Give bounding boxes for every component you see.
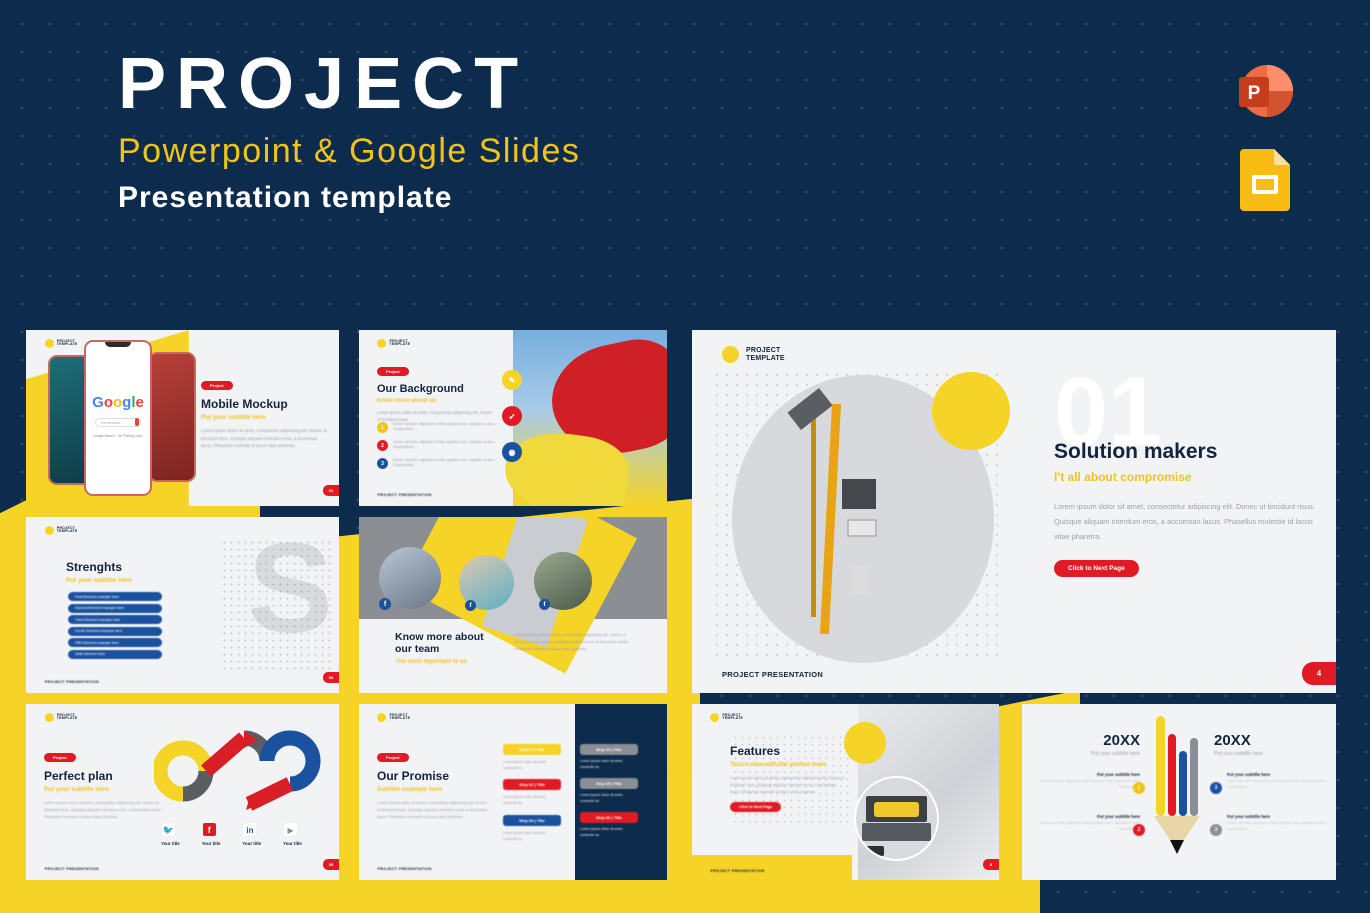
social-label: Your title <box>161 841 180 846</box>
slide-card-features[interactable]: PROJECT TEMPLATE Features You're now wit… <box>692 704 999 880</box>
app-icon-group: P <box>1235 63 1295 211</box>
slide2-tag: Project <box>377 367 409 376</box>
step-button[interactable]: Step 05 | Title <box>580 778 638 789</box>
slide8-page-badge: 6 <box>983 859 999 870</box>
slide5-subtitle: I't all about compromise <box>1054 470 1324 484</box>
mic-icon <box>135 418 139 426</box>
slide8-title: Features <box>730 744 846 758</box>
slide2-subtitle: Know more about us <box>377 398 495 404</box>
yellow-sofa <box>874 802 918 818</box>
feeling-lucky-button[interactable]: I'm Feeling Lucky <box>118 434 143 438</box>
slide3-footer: PROJECT PRESENTATION <box>45 680 99 684</box>
linkedin-icon[interactable]: in <box>242 822 257 837</box>
logo-line-1: PROJECT <box>746 347 780 354</box>
slide4-body: Lorem ipsum dolor sit amet, consectetur … <box>514 632 639 652</box>
phone-right <box>148 352 196 482</box>
slide2-title: Our Background <box>377 383 495 395</box>
pencil-bar-4 <box>1190 738 1198 816</box>
click-next-page-button[interactable]: Click to Next Page <box>730 802 781 812</box>
slide7-body: Lorem ipsum dolor sit amet, consectetur … <box>377 799 489 820</box>
slide5-footer: PROJECT PRESENTATION <box>722 670 823 679</box>
logo-dot-icon <box>377 713 386 722</box>
logo-line-2: TEMPLATE <box>722 716 743 720</box>
social-item[interactable]: 🐦 Your title <box>161 822 180 846</box>
slide4-subtitle: The most important to us <box>395 659 499 665</box>
slide8-subtitle: You're now with the perfect team <box>730 761 846 768</box>
slide1-body: Lorem ipsum dolor sit amet, consectetur … <box>201 427 329 450</box>
logo-line-2: TEMPLATE <box>746 355 785 362</box>
entry-title: Put your subtitle here <box>1227 772 1327 777</box>
slide3-title: Strenghts <box>66 560 132 574</box>
social-label: Your title <box>242 841 261 846</box>
slide8-body: Lorem ipsum dolor sit amet, consectetur … <box>730 774 846 795</box>
entry-right-1: Put your subtitle here Donec nisi nibh, … <box>1227 772 1327 790</box>
entry-num: 1 <box>1133 782 1145 794</box>
google-slides-icon <box>1240 149 1290 211</box>
youtube-icon[interactable]: ▶ <box>283 822 298 837</box>
steps-col-left: Step 01 | Title Lorem ipsum dolor sit am… <box>503 744 561 842</box>
pencil-bar-2 <box>1168 734 1176 816</box>
yellow-circle-accent <box>844 722 886 764</box>
logo-line-2: TEMPLATE <box>389 342 410 346</box>
logo-line-2: TEMPLATE <box>57 342 78 346</box>
entry-right-2: Put your subtitle here Donec nisi nibh, … <box>1227 814 1327 832</box>
facebook-icon[interactable]: f <box>465 600 476 611</box>
slide3-logo: PROJECT TEMPLATE <box>45 526 78 535</box>
slide-card-our-background[interactable]: PROJECT TEMPLATE Project Our Background … <box>359 330 667 506</box>
step-text: Lorem ipsum dolor sit amet, consecte tur… <box>580 793 638 804</box>
entry-left-1: Put your subtitle here Donec nisi nibh, … <box>1036 772 1140 790</box>
crane-cab <box>842 479 876 509</box>
pencil-wood <box>1154 816 1200 842</box>
steps-col-right: Step 04 | Title Lorem ipsum dolor sit am… <box>580 744 638 839</box>
slide-card-solution-makers[interactable]: PROJECT TEMPLATE 01 Solution makers I't … <box>692 330 1336 693</box>
slide1-title: Mobile Mockup <box>201 397 329 411</box>
slide-card-strenghts[interactable]: S PROJECT TEMPLATE Strenghts Put your su… <box>26 517 339 693</box>
list-num: 3 <box>377 458 388 469</box>
phone-center: Google Your keyword Google Search I'm Fe… <box>84 340 152 496</box>
powerpoint-icon: P <box>1235 63 1295 123</box>
pen-icon: ✎ <box>502 370 522 390</box>
entry-left-2: Put your subtitle here Donec nisi nibh, … <box>1036 814 1140 832</box>
logo-dot-icon <box>45 339 54 348</box>
list-item: 2 Donec vancidin, dignissim mollis egest… <box>377 440 502 451</box>
slide8-footer: PROJECT PRESENTATION <box>710 869 764 873</box>
logo-dot-icon <box>377 339 386 348</box>
crane-mast <box>820 404 841 634</box>
list-num: 2 <box>377 440 388 451</box>
slide1-logo: PROJECT TEMPLATE <box>45 339 78 348</box>
slide3-bar-list: First Element example here Second Elemen… <box>68 592 162 661</box>
step-button[interactable]: Step 01 | Title <box>503 744 561 755</box>
bar-item[interactable]: First Element example here <box>68 592 162 601</box>
twitter-icon[interactable]: 🐦 <box>161 822 176 837</box>
slide2-list: 1 Donec vancidin, dignissim mollis egest… <box>377 422 502 469</box>
pencil-bar-3 <box>1179 751 1187 816</box>
slide8-yellow-strip <box>692 855 852 880</box>
slide6-subtitle: Put your subtitle here <box>44 786 162 793</box>
laptop-photo <box>854 776 939 861</box>
step-text: Lorem ipsum dolor sit amet, consecte tur… <box>503 759 561 771</box>
slide1-tag: Project <box>201 381 233 390</box>
step-text: Lorem ipsum dolor sit amet, consecte tur… <box>580 827 638 838</box>
list-item: 3 Donec vancidin, dignissim mollis egest… <box>377 458 502 469</box>
step-text: Lorem ipsum dolor sit amet, consecte tur… <box>503 794 561 806</box>
slide8-logo: PROJECT TEMPLATE <box>710 713 743 722</box>
slide1-page-badge: 01 <box>323 485 339 496</box>
slide4-title: Know more about our team <box>395 631 499 656</box>
social-item[interactable]: f Your title <box>202 822 221 846</box>
slide3-dot-pattern <box>221 539 331 674</box>
entry-title: Put your subtitle here <box>1036 814 1140 819</box>
right-year-subtitle: Put your subtitle here <box>1214 751 1314 757</box>
facebook-icon[interactable]: f <box>379 598 391 610</box>
entry-num: 2 <box>1133 824 1145 836</box>
list-num: 1 <box>377 422 388 433</box>
slide5-title: Solution makers <box>1054 440 1324 464</box>
google-logo: Google <box>86 394 150 411</box>
phone-notch <box>105 342 131 347</box>
phone-object <box>859 846 883 856</box>
slide5-logo: PROJECT TEMPLATE <box>722 346 785 363</box>
page-title: PROJECT <box>118 48 580 120</box>
slide2-footer: PROJECT PRESENTATION <box>377 493 431 497</box>
laptop-screen <box>866 796 928 822</box>
slide7-footer: PROJECT PRESENTATION <box>377 867 431 871</box>
step-button[interactable]: Step 03 | Title <box>503 815 561 826</box>
step-button[interactable]: Step 02 | Title <box>503 779 561 790</box>
entry-text: Donec nisi nibh, dignissim mollis egesta… <box>1036 821 1140 832</box>
slide6-footer: PROJECT PRESENTATION <box>45 867 99 871</box>
click-next-page-button[interactable]: Click to Next Page <box>1054 560 1139 577</box>
bar-item[interactable]: Fifth Element example here <box>68 638 162 647</box>
facebook-icon[interactable]: f <box>202 822 217 837</box>
entry-title: Put your subtitle here <box>1227 814 1327 819</box>
slide2-photo-umbrella <box>513 330 667 506</box>
slide-card-pencil-timeline[interactable]: 20XX Put your subtitle here Put your sub… <box>1022 704 1336 880</box>
search-buttons[interactable]: Google Search I'm Feeling Lucky <box>86 434 150 438</box>
step-button[interactable]: Step 06 | Title <box>580 812 638 823</box>
entry-num: 3 <box>1210 824 1222 836</box>
slide7-title: Our Promise <box>377 769 489 783</box>
crane-hoist <box>853 565 869 595</box>
entry-text: Donec nisi nibh, dignissim mollis egesta… <box>1227 779 1327 790</box>
infinity-loop-diagram <box>154 726 334 816</box>
slide7-logo: PROJECT TEMPLATE <box>377 713 410 722</box>
logo-dot-icon <box>45 713 54 722</box>
logo-line-2: TEMPLATE <box>57 716 78 720</box>
social-item[interactable]: in Your title <box>242 822 261 846</box>
laptop-keyboard <box>862 823 930 841</box>
entry-text: Donec nisi nibh, dignissim mollis egesta… <box>1036 779 1140 790</box>
social-row: 🐦 Your title f Your title in Your title … <box>161 822 302 846</box>
yellow-circle-accent <box>932 372 1010 450</box>
page-header: PROJECT Powerpoint & Google Slides Prese… <box>118 48 580 215</box>
slide5-page-badge: 4 <box>1302 662 1336 685</box>
pencil-bar-1 <box>1156 716 1165 816</box>
slide-card-perfect-plan[interactable]: PROJECT TEMPLATE Project Perfect plan Pu… <box>26 704 339 880</box>
page-subtitle-2: Presentation template <box>118 181 580 215</box>
slide-card-our-promise[interactable]: PROJECT TEMPLATE Project Our Promise Sub… <box>359 704 667 880</box>
right-year: 20XX <box>1214 732 1314 749</box>
left-year-subtitle: Put your subtitle here <box>1040 751 1140 757</box>
left-year: 20XX <box>1040 732 1140 749</box>
logo-line-2: TEMPLATE <box>389 716 410 720</box>
list-text: Donec vancidin, dignissim mollis egestas… <box>393 422 502 433</box>
social-item[interactable]: ▶ Your title <box>283 822 302 846</box>
svg-text:P: P <box>1248 83 1261 104</box>
logo-dot-icon <box>722 346 739 363</box>
logo-line-2: TEMPLATE <box>57 529 78 533</box>
globe-icon: ◉ <box>502 442 522 462</box>
list-text: Donec vancidin, dignissim mollis egestas… <box>393 440 502 451</box>
bar-item[interactable]: Second Element example here <box>68 604 162 613</box>
entry-text: Donec nisi nibh, dignissim mollis egesta… <box>1227 821 1327 832</box>
slide2-logo: PROJECT TEMPLATE <box>377 339 410 348</box>
list-item: 1 Donec vancidin, dignissim mollis egest… <box>377 422 502 433</box>
entry-title: Put your subtitle here <box>1036 772 1140 777</box>
slide5-body: Lorem ipsum dolor sit amet, consectetur … <box>1054 500 1324 544</box>
step-text: Lorem ipsum dolor sit amet, consecte tur… <box>503 830 561 842</box>
entry-num: 3 <box>1210 782 1222 794</box>
slide7-tag: Project <box>377 753 409 762</box>
step-text: Lorem ipsum dolor sit amet, consecte tur… <box>580 759 638 770</box>
logo-dot-icon <box>710 713 719 722</box>
bar-item[interactable]: Third Element example here <box>68 615 162 624</box>
crane-platform <box>847 519 877 537</box>
bar-item[interactable]: Fourth Element example here <box>68 627 162 636</box>
list-text: Donec vancidin, dignissim mollis egestas… <box>393 458 502 469</box>
slide6-body: Lorem ipsum dolor sit amet, consectetur … <box>44 799 162 820</box>
social-label: Your title <box>283 841 302 846</box>
google-search-button[interactable]: Google Search <box>93 434 114 438</box>
slide6-logo: PROJECT TEMPLATE <box>45 713 78 722</box>
slide-card-mobile-mockup[interactable]: PROJECT TEMPLATE Google Your keyword Goo… <box>26 330 339 506</box>
pencil-graphic <box>1154 716 1204 836</box>
slide3-subtitle: Put your subtitle here <box>66 577 132 584</box>
page-subtitle: Powerpoint & Google Slides <box>118 132 580 171</box>
slide3-page-badge: 03 <box>323 672 339 683</box>
crane-mast-2 <box>811 404 816 617</box>
slide1-subtitle: Put your subtitle here <box>201 414 329 421</box>
pencil-tip <box>1170 840 1184 854</box>
slide6-tag: Project <box>44 753 76 762</box>
slide7-subtitle: Subtitle example here <box>377 786 489 793</box>
logo-dot-icon <box>45 526 54 535</box>
bar-item[interactable]: Sixth element here <box>68 650 162 659</box>
step-button[interactable]: Step 04 | Title <box>580 744 638 755</box>
social-label: Your title <box>202 841 221 846</box>
slide-card-our-team[interactable]: f f f Know more about our team The most … <box>359 517 667 693</box>
rocket-icon: ➶ <box>502 406 522 426</box>
slide6-page-badge: 05 <box>323 859 339 870</box>
slide6-title: Perfect plan <box>44 769 162 783</box>
facebook-icon[interactable]: f <box>539 599 550 610</box>
